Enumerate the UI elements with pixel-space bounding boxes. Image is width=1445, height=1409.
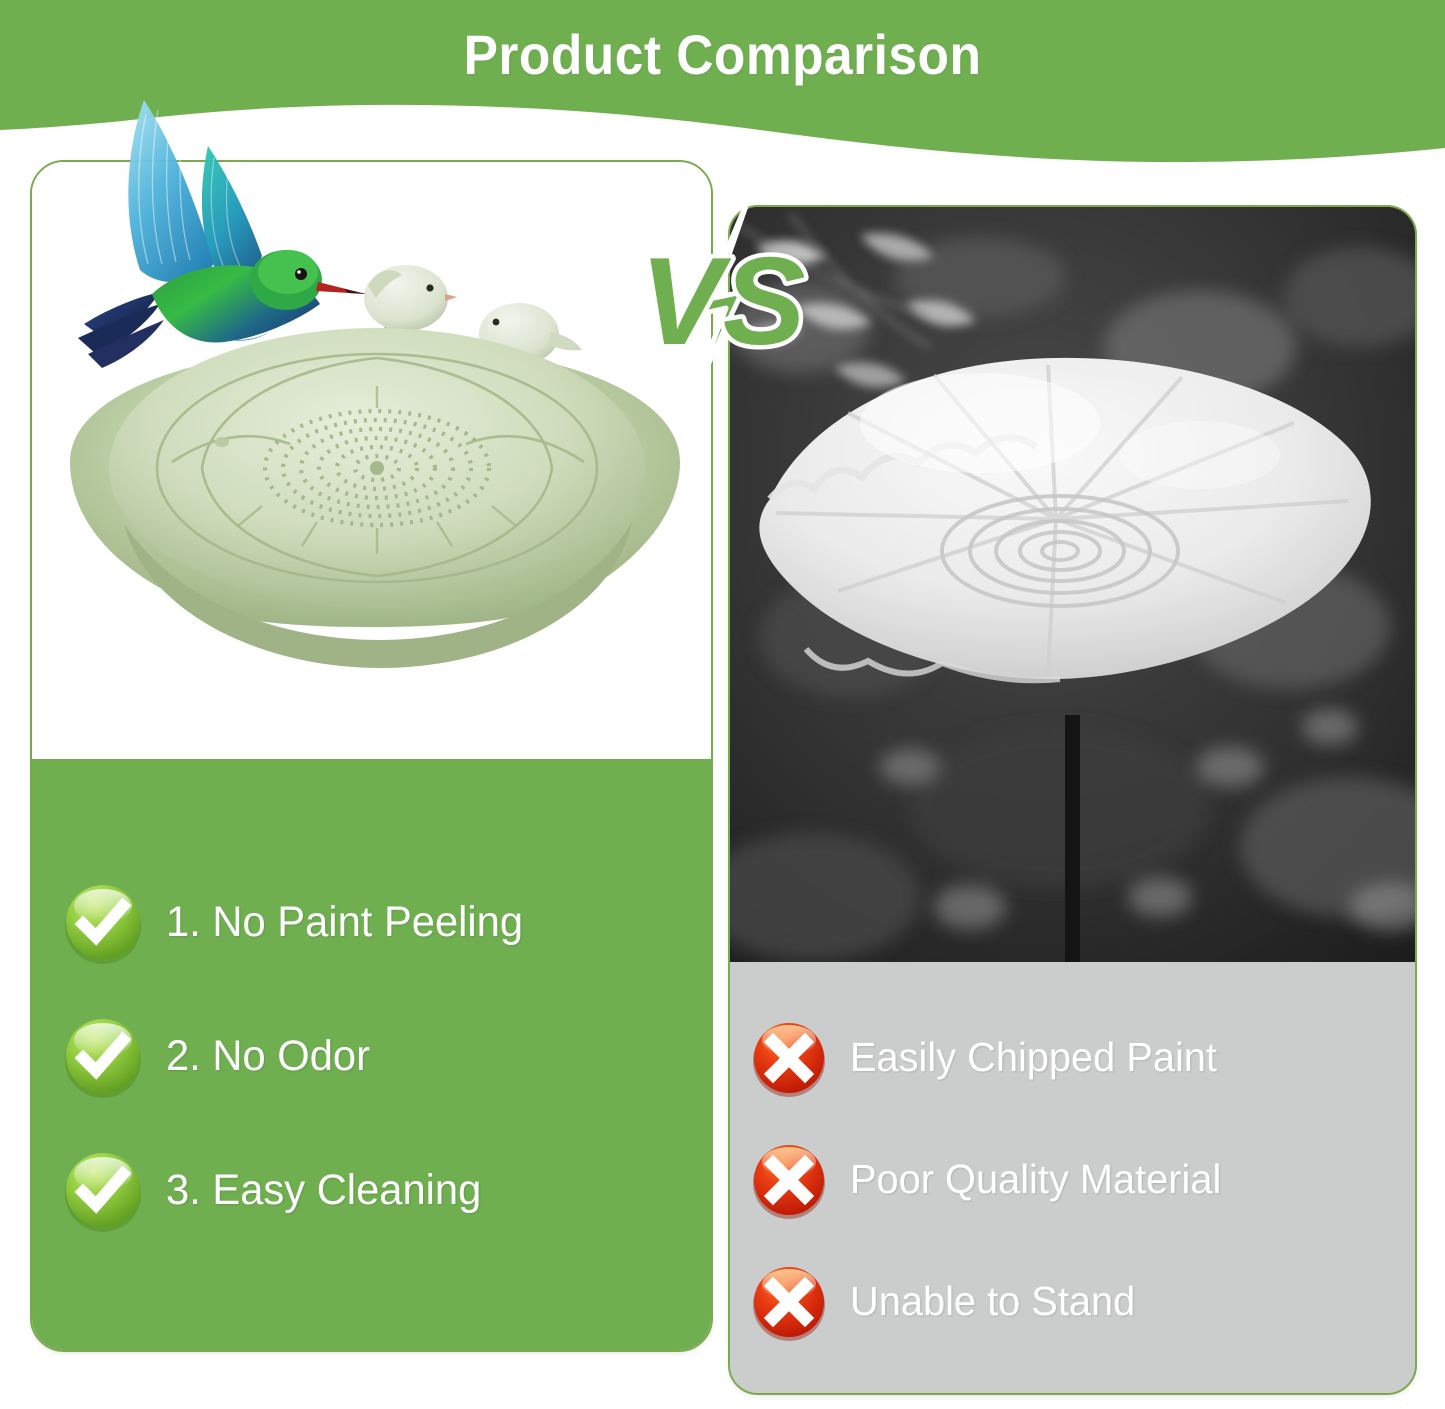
cons-item-label: Easily Chipped Paint bbox=[850, 1034, 1217, 1081]
list-item: 3. Easy Cleaning bbox=[60, 1148, 685, 1234]
cons-list: Easily Chipped Paint Poor Quality Materi… bbox=[730, 962, 1415, 1395]
pros-item-label: 1. No Paint Peeling bbox=[166, 898, 523, 947]
cons-item-label: Unable to Stand bbox=[850, 1278, 1135, 1325]
list-item: Easily Chipped Paint bbox=[748, 1017, 1389, 1099]
check-circle-icon bbox=[60, 880, 146, 966]
pros-list: 1. No Paint Peeling 2. No Odor bbox=[32, 759, 711, 1352]
list-item: 1. No Paint Peeling bbox=[60, 880, 685, 966]
list-item: Poor Quality Material bbox=[748, 1139, 1389, 1221]
pros-item-label: 2. No Odor bbox=[166, 1032, 370, 1081]
list-item: 2. No Odor bbox=[60, 1014, 685, 1100]
check-circle-icon bbox=[60, 1014, 146, 1100]
hummingbird-icon bbox=[48, 88, 368, 418]
pros-section: 1. No Paint Peeling 2. No Odor bbox=[32, 759, 711, 1352]
x-circle-icon bbox=[748, 1139, 830, 1221]
glass-birdbath-illustration bbox=[730, 207, 1415, 962]
cons-item-label: Poor Quality Material bbox=[850, 1156, 1221, 1203]
page-title: Product Comparison bbox=[58, 22, 1387, 87]
right-product-panel: Easily Chipped Paint Poor Quality Materi… bbox=[728, 205, 1417, 1395]
pros-item-label: 3. Easy Cleaning bbox=[166, 1166, 481, 1215]
x-circle-icon bbox=[748, 1017, 830, 1099]
x-circle-icon bbox=[748, 1261, 830, 1343]
birdbath-stake bbox=[1065, 715, 1080, 962]
glass-birdbath-photo bbox=[730, 207, 1415, 962]
cons-section: Easily Chipped Paint Poor Quality Materi… bbox=[730, 962, 1415, 1395]
list-item: Unable to Stand bbox=[748, 1261, 1389, 1343]
check-circle-icon bbox=[60, 1148, 146, 1234]
